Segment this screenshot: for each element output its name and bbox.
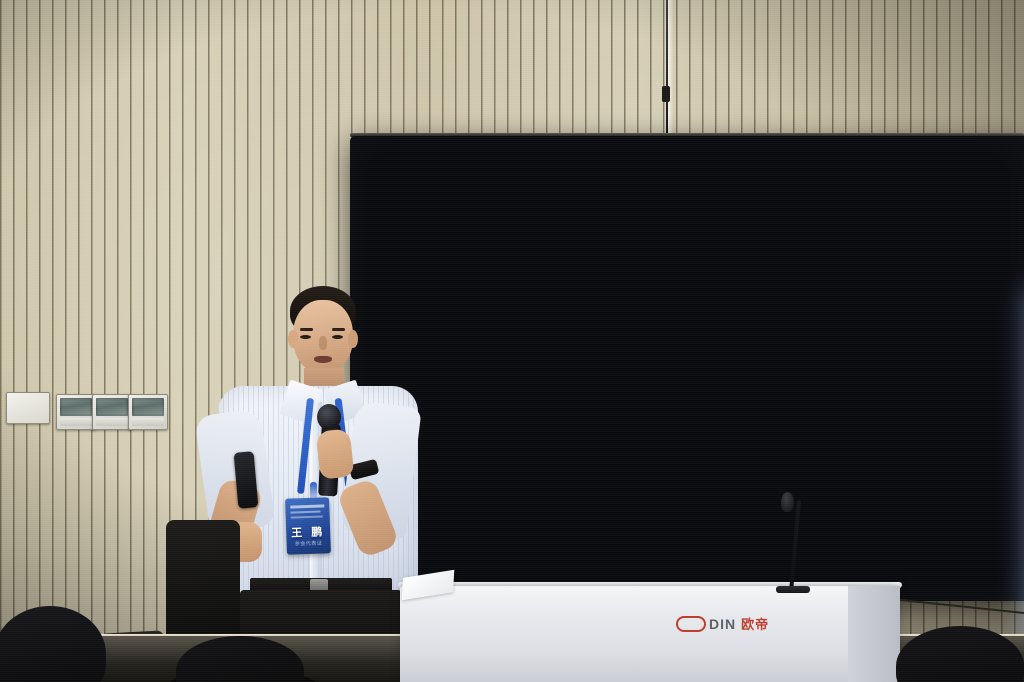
gooseneck-mic-base xyxy=(776,586,810,593)
ceiling-cable-node xyxy=(662,86,670,102)
podium-side-panel xyxy=(848,586,900,682)
speaker-ear-right xyxy=(348,330,358,348)
wall-panel-lcd-2[interactable] xyxy=(92,394,132,430)
speaker-ear-left xyxy=(288,330,298,348)
badge-header-line-2 xyxy=(290,511,320,514)
wall-panel-lcd-1[interactable] xyxy=(56,394,96,430)
ceiling-cable xyxy=(666,0,668,140)
screenshot-stage: 组织简介 基本概况 七〇七所是以导航、操控与海洋环境为主导 所。历经半个多世纪的… xyxy=(0,0,1024,682)
speaker-id-badge: 王 鹏 参会代表证 xyxy=(285,497,331,555)
wall-panel-lcd-3[interactable] xyxy=(128,394,168,430)
badge-name-text: 王 鹏 xyxy=(286,523,331,541)
lcd-screen xyxy=(132,398,164,416)
speaker-brow-right xyxy=(332,328,345,331)
lcd-foot xyxy=(132,418,164,425)
microphone-head[interactable] xyxy=(317,404,341,430)
gooseneck-mic-head[interactable] xyxy=(781,492,794,512)
office-chair-back[interactable] xyxy=(166,520,240,640)
brand-name-latin: DIN xyxy=(709,616,736,632)
lcd-screen xyxy=(60,398,92,416)
brand-name-chinese: 欧帝 xyxy=(741,614,769,633)
podium-lectern[interactable]: DIN 欧帝 xyxy=(400,586,900,682)
lcd-foot xyxy=(96,418,128,425)
badge-subtitle-text: 参会代表证 xyxy=(287,539,331,548)
speaker-mouth xyxy=(314,356,332,363)
speaker-brow-left xyxy=(300,328,313,331)
lcd-screen xyxy=(96,398,128,416)
brand-oval-mark xyxy=(676,616,706,632)
speaker-hand-right xyxy=(316,428,355,479)
speaker-eye-right xyxy=(332,335,343,339)
lcd-foot xyxy=(60,418,92,425)
speaker-eye-left xyxy=(300,335,311,339)
podium-brand-logo: DIN 欧帝 xyxy=(676,614,769,633)
presentation-display[interactable]: 组织简介 基本概况 七〇七所是以导航、操控与海洋环境为主导 所。历经半个多世纪的… xyxy=(350,136,1024,601)
badge-header-line-3 xyxy=(291,515,323,518)
badge-header-line-1 xyxy=(290,504,324,508)
speaker-nose xyxy=(319,336,327,350)
wall-panel-blank-switch-plate[interactable] xyxy=(6,392,50,424)
